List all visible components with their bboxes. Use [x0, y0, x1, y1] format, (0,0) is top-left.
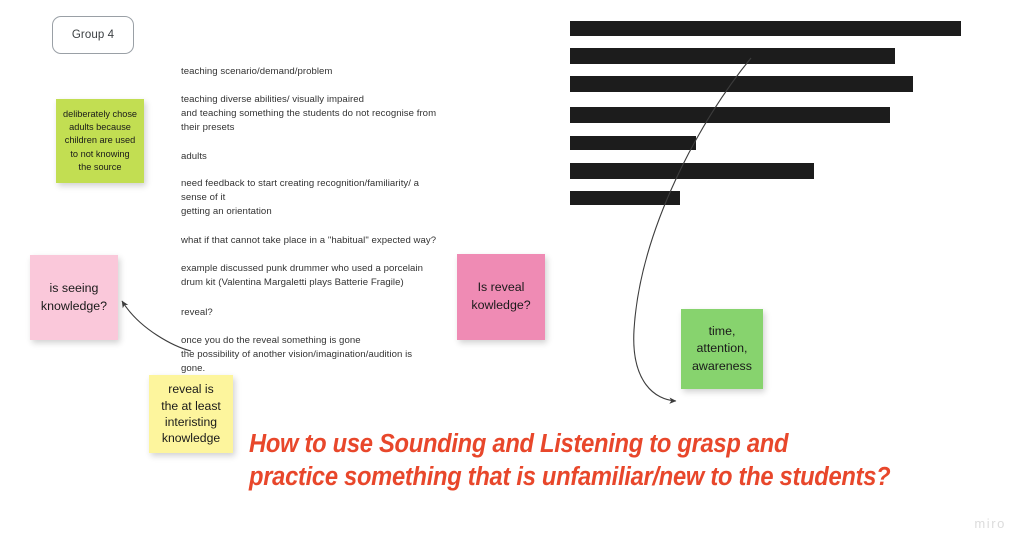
redacted-bar: [570, 48, 895, 64]
sticky-is-reveal-kowledge[interactable]: Is reveal kowledge?: [457, 254, 545, 340]
note-need-feedback[interactable]: need feedback to start creating recognit…: [181, 177, 419, 220]
sticky-deliberately-chose-adults[interactable]: deliberately chose adults because childr…: [56, 99, 144, 183]
sticky-time-attention-awareness[interactable]: time, attention, awareness: [681, 309, 763, 389]
redacted-bar: [570, 163, 814, 179]
redacted-bar: [570, 191, 680, 205]
sticky-reveal-is-interisting[interactable]: reveal is the at least interisting knowl…: [149, 375, 233, 453]
redacted-bar: [570, 107, 890, 123]
board-headline[interactable]: How to use Sounding and Listening to gra…: [249, 428, 956, 493]
note-reveal-question[interactable]: reveal?: [181, 306, 213, 320]
note-adults[interactable]: adults: [181, 150, 207, 164]
redacted-bar: [570, 21, 961, 36]
note-punk-drummer-example[interactable]: example discussed punk drummer who used …: [181, 262, 423, 290]
note-teaching-diverse-abilities[interactable]: teaching diverse abilities/ visually imp…: [181, 93, 436, 136]
note-once-you-reveal[interactable]: once you do the reveal something is gone…: [181, 334, 412, 377]
note-teaching-scenario[interactable]: teaching scenario/demand/problem: [181, 65, 332, 79]
frame-label-group-4[interactable]: Group 4: [52, 16, 134, 54]
redacted-bar: [570, 136, 696, 150]
miro-board-canvas[interactable]: Group 4 teaching scenario/demand/problem…: [0, 0, 1024, 543]
sticky-is-seeing-knowledge[interactable]: is seeing knowledge?: [30, 255, 118, 340]
miro-watermark: miro: [974, 516, 1006, 531]
note-habitual-expected-way[interactable]: what if that cannot take place in a "hab…: [181, 234, 436, 248]
redacted-bar: [570, 76, 913, 92]
